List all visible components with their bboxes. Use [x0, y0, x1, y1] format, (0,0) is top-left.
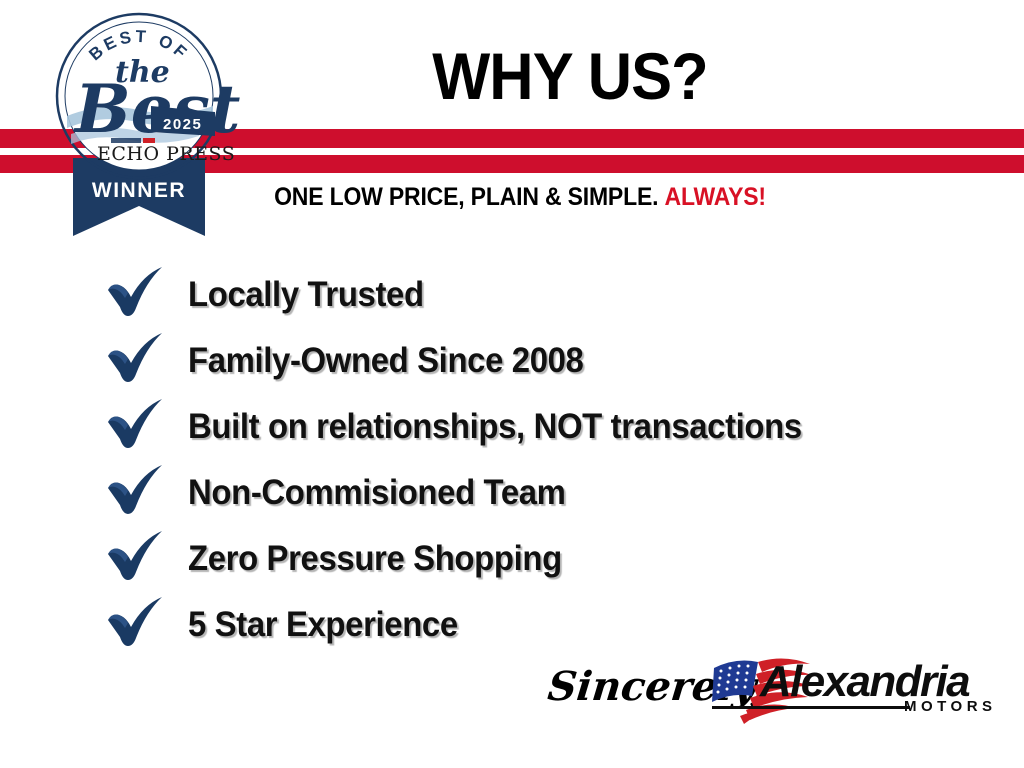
dealer-logo: Alexandria MOTORS [706, 652, 966, 730]
checkmark-icon [104, 462, 166, 520]
list-item-label: Family-Owned Since 2008 [188, 341, 583, 381]
page-title: WHY US? [291, 41, 849, 111]
checkmark-icon [104, 396, 166, 454]
subtitle-main: ONE LOW PRICE, PLAIN & SIMPLE. [274, 183, 658, 211]
list-item-label: Zero Pressure Shopping [188, 539, 562, 579]
benefits-list: Locally Trusted Family-Owned Since 2008 … [104, 262, 1004, 658]
list-item: Non-Commisioned Team [104, 460, 1004, 526]
list-item: Family-Owned Since 2008 [104, 328, 1004, 394]
list-item-label: Built on relationships, NOT transactions [188, 407, 802, 447]
dealer-subtitle: MOTORS [904, 698, 997, 716]
subtitle: ONE LOW PRICE, PLAIN & SIMPLE. ALWAYS! [180, 182, 861, 212]
list-item: Built on relationships, NOT transactions [104, 394, 1004, 460]
badge-publisher: ECHO PRESS [97, 138, 235, 165]
list-item-label: Locally Trusted [188, 275, 424, 315]
checkmark-icon [104, 330, 166, 388]
list-item: Locally Trusted [104, 262, 1004, 328]
list-item: 5 Star Experience [104, 592, 1004, 658]
badge-script-the: the [115, 55, 170, 90]
badge-publisher-name: ECHO PRESS [97, 143, 235, 165]
list-item-label: Non-Commisioned Team [188, 473, 566, 513]
checkmark-icon [104, 264, 166, 322]
subtitle-accent: ALWAYS! [665, 183, 766, 211]
list-item: Zero Pressure Shopping [104, 526, 1004, 592]
slide-canvas: BEST OF Best the 2025 ECHO PRESS WINNER [0, 0, 1024, 768]
badge-year: 2025 [163, 116, 202, 133]
checkmark-icon [104, 594, 166, 652]
best-of-the-best-badge: BEST OF Best the 2025 ECHO PRESS WINNER [55, 8, 270, 240]
logo-divider [712, 706, 910, 709]
winner-label: WINNER [92, 179, 186, 202]
list-item-label: 5 Star Experience [188, 605, 458, 645]
checkmark-icon [104, 528, 166, 586]
